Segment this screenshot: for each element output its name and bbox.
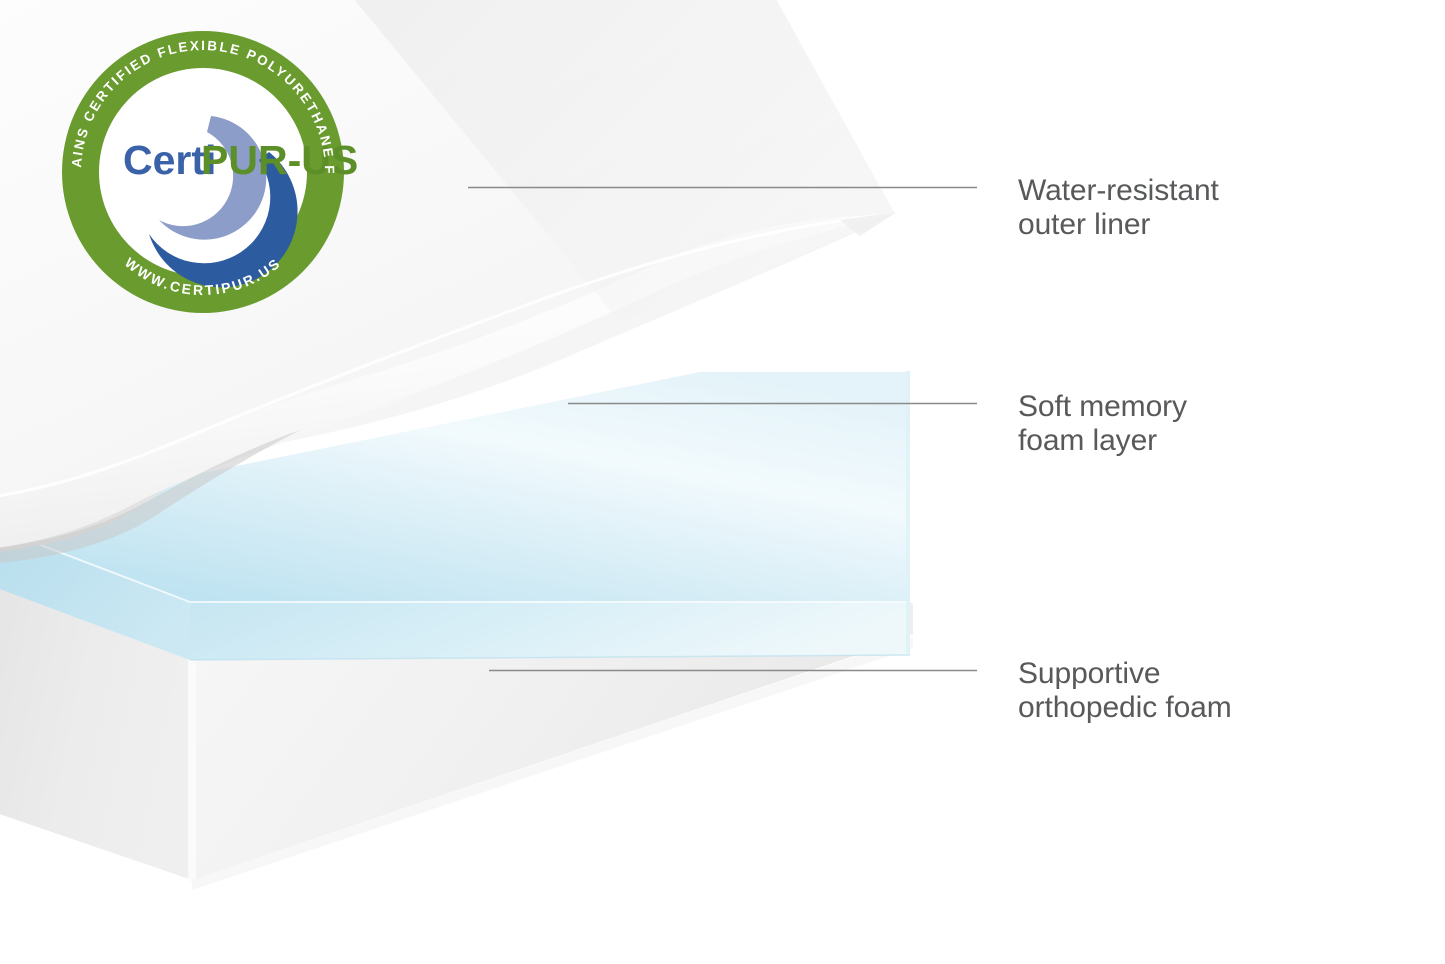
mattress-illustration: Certi PUR-US ® CONTAINS CERTIFIED FLEXIB…	[0, 0, 1445, 964]
memory-foam-right-cap	[906, 371, 910, 655]
callout-label-soft-memory-foam-layer: Soft memory foam layer	[1018, 390, 1187, 457]
diagram-canvas: Certi PUR-US ® CONTAINS CERTIFIED FLEXIB…	[0, 0, 1445, 964]
memory-foam-front-face	[190, 603, 910, 660]
callout-label-supportive-orthopedic-foam: Supportive orthopedic foam	[1018, 657, 1232, 724]
callout-label-water-resistant-outer-liner: Water-resistant outer liner	[1018, 174, 1219, 241]
support-foam-right-face	[192, 636, 913, 880]
support-foam-corner-highlight	[188, 635, 196, 882]
